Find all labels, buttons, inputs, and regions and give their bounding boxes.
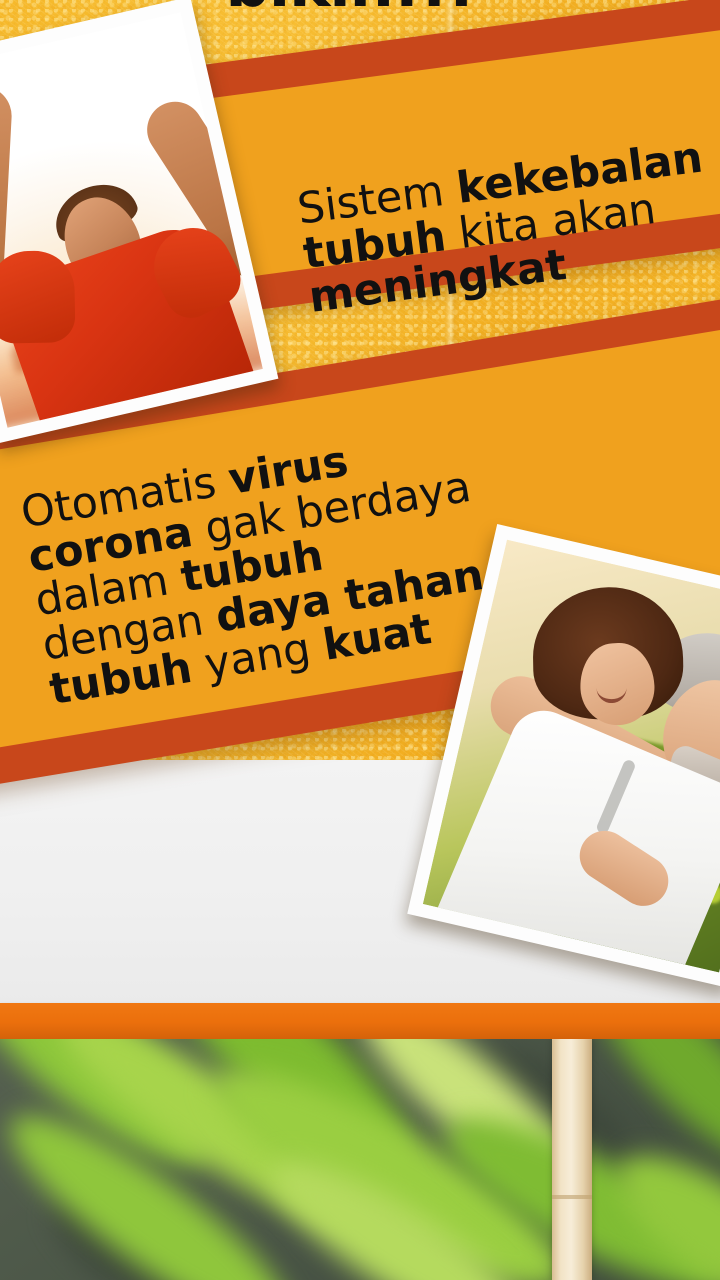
left-sleeve: [0, 250, 76, 343]
bottom-plant-photo: [0, 1039, 720, 1280]
wooden-stick: [552, 1039, 592, 1280]
poster-canvas: bikin!!! Sistem kekebalan tubuh kita a: [0, 0, 720, 1280]
stick-node: [552, 1195, 592, 1199]
orange-divider-bar: [0, 1003, 720, 1039]
